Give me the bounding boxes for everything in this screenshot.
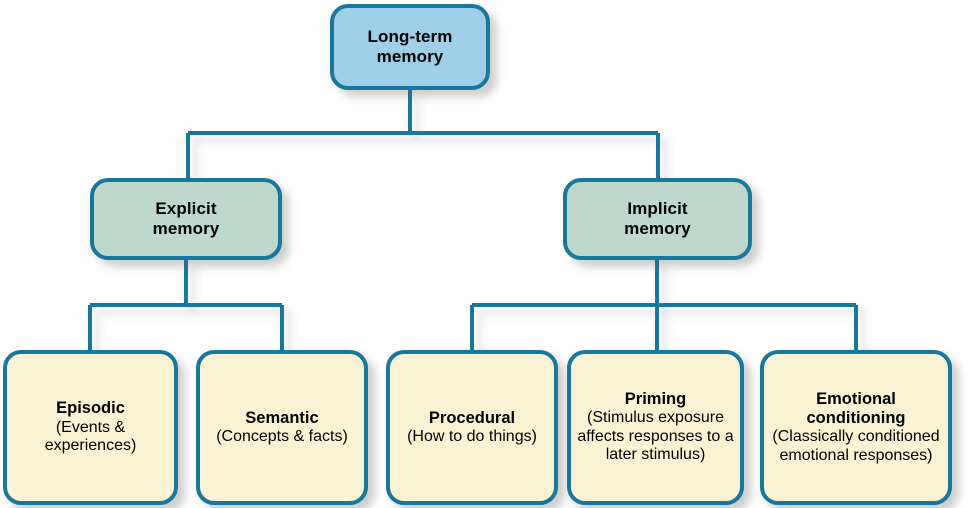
- long-term-memory-diagram: Long-term memory Explicit memory Implici…: [0, 0, 975, 508]
- node-episodic[interactable]: Episodic (Events & experiences): [3, 350, 178, 505]
- node-implicit-memory-title-line1: Implicit: [624, 199, 691, 219]
- node-long-term-memory[interactable]: Long-term memory: [330, 4, 490, 90]
- node-priming-description: (Stimulus exposure affects responses to …: [577, 409, 734, 465]
- node-emotional-conditioning-label: Emotional conditioning (Classically cond…: [764, 390, 948, 465]
- node-emotional-conditioning[interactable]: Emotional conditioning (Classically cond…: [760, 350, 952, 505]
- node-long-term-memory-title-line1: Long-term: [368, 27, 453, 47]
- node-procedural-label: Procedural (How to do things): [401, 409, 543, 447]
- node-implicit-memory-title-line2: memory: [624, 219, 691, 239]
- node-episodic-description: (Events & experiences): [13, 419, 168, 456]
- node-explicit-memory-label: Explicit memory: [147, 199, 226, 238]
- node-semantic-label: Semantic (Concepts & facts): [210, 409, 354, 447]
- node-emotional-conditioning-title: Emotional conditioning: [770, 390, 942, 428]
- node-explicit-memory-title-line2: memory: [153, 219, 220, 239]
- node-procedural[interactable]: Procedural (How to do things): [386, 350, 558, 505]
- node-procedural-description: (How to do things): [407, 428, 537, 447]
- node-priming-label: Priming (Stimulus exposure affects respo…: [571, 390, 740, 465]
- node-implicit-memory-label: Implicit memory: [618, 199, 697, 238]
- node-semantic-description: (Concepts & facts): [216, 428, 348, 447]
- node-explicit-memory[interactable]: Explicit memory: [90, 178, 282, 260]
- node-priming-title: Priming: [577, 390, 734, 409]
- node-procedural-title: Procedural: [407, 409, 537, 428]
- node-long-term-memory-label: Long-term memory: [362, 27, 459, 66]
- node-implicit-memory[interactable]: Implicit memory: [563, 178, 752, 260]
- node-episodic-title: Episodic: [13, 399, 168, 418]
- node-long-term-memory-title-line2: memory: [368, 47, 453, 67]
- node-semantic-title: Semantic: [216, 409, 348, 428]
- node-explicit-memory-title-line1: Explicit: [153, 199, 220, 219]
- node-emotional-conditioning-description: (Classically conditioned emotional respo…: [770, 428, 942, 465]
- node-episodic-label: Episodic (Events & experiences): [7, 399, 174, 455]
- node-semantic[interactable]: Semantic (Concepts & facts): [196, 350, 368, 505]
- node-priming[interactable]: Priming (Stimulus exposure affects respo…: [567, 350, 744, 505]
